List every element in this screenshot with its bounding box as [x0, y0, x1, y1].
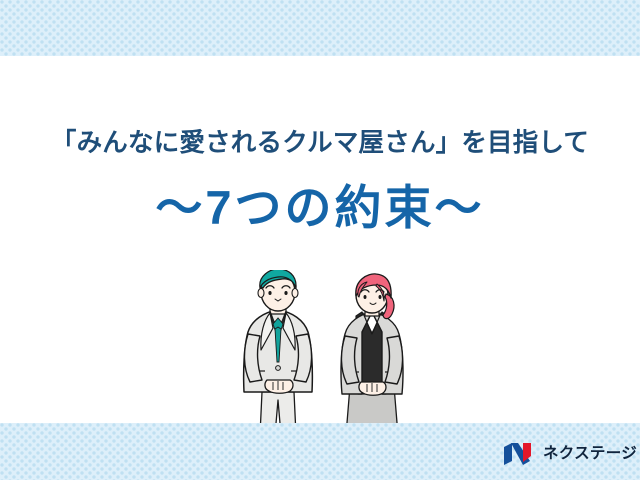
headline-line-2: 〜7つの約束〜 — [0, 179, 640, 237]
male-staff-figure — [244, 270, 313, 435]
staff-illustration — [240, 270, 420, 435]
headline-line-1: 「みんなに愛されるクルマ屋さん」を目指して — [0, 126, 640, 160]
top-dotted-band — [0, 0, 640, 56]
nextage-n-mark-icon — [503, 442, 537, 466]
brand-name-label: ネクステージ — [543, 446, 637, 462]
female-staff-figure — [341, 274, 403, 435]
brand-logo: ネクステージ — [503, 438, 628, 470]
promo-banner: 「みんなに愛されるクルマ屋さん」を目指して 〜7つの約束〜 — [0, 0, 640, 480]
